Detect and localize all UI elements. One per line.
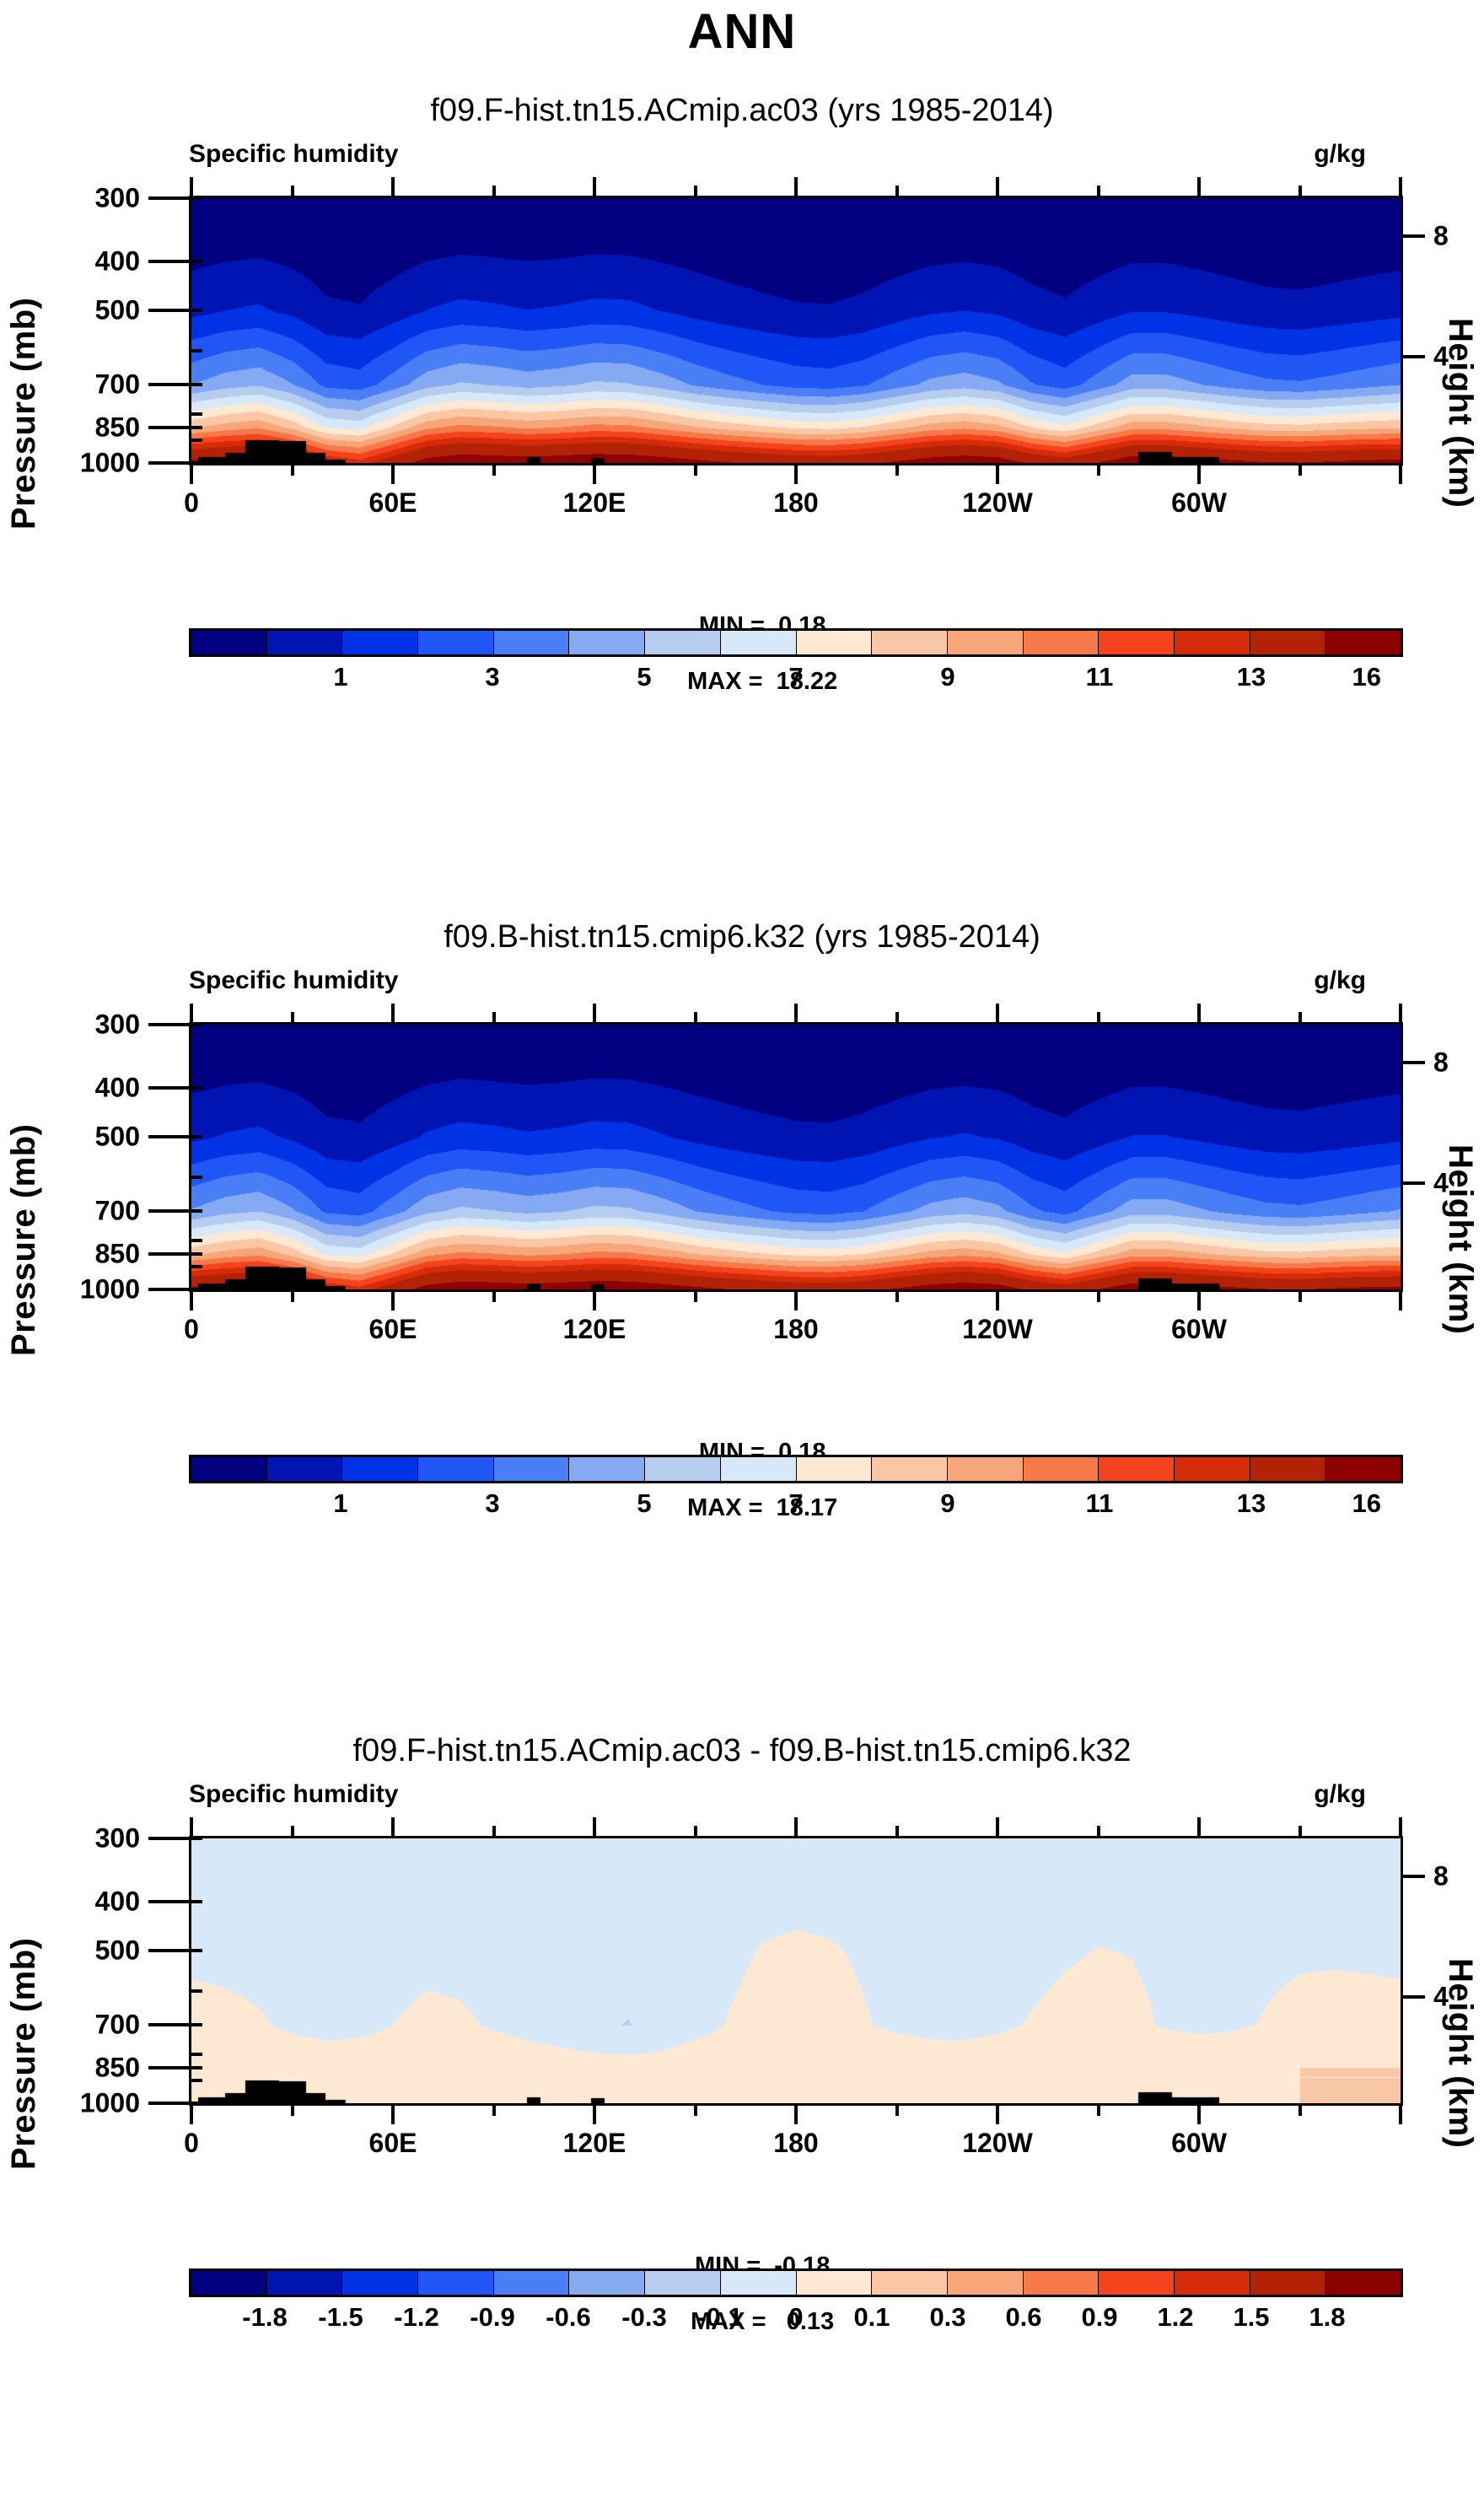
variable-label: Specific humidity — [189, 1780, 398, 1809]
pressure-tick-mark — [148, 1023, 189, 1026]
colorbar-segment — [645, 631, 721, 654]
longitude-top-tick — [694, 186, 697, 196]
colorbar-labels: 13579111316 — [189, 1488, 1403, 1522]
longitude-top-tick — [694, 1826, 697, 1836]
colorbar-segment — [797, 2271, 873, 2295]
longitude-top-tick — [996, 177, 999, 196]
colorbar-segment — [494, 1457, 570, 1481]
pressure-minor-tick — [189, 1239, 202, 1242]
colorbar-segment — [1250, 631, 1326, 654]
pressure-minor-tick — [189, 2066, 202, 2069]
longitude-top-tick — [190, 1004, 193, 1022]
height-tick-label: 4 — [1433, 1981, 1484, 2012]
longitude-bottom-tick — [190, 466, 193, 484]
pressure-tick-mark — [148, 309, 189, 312]
colorbar-tick-label: 1.5 — [1233, 2302, 1269, 2333]
longitude-top-tick — [1298, 1012, 1302, 1022]
colorbar-segment — [1325, 631, 1401, 654]
pressure-minor-tick — [189, 2102, 202, 2105]
pressure-tick-label: 300 — [47, 183, 140, 214]
colorbar-segment — [872, 631, 948, 654]
colorbar-tick-label: 3 — [485, 1488, 499, 1519]
height-tick-label: 8 — [1433, 1860, 1484, 1892]
colorbar — [189, 628, 1403, 657]
colorbar-segment — [872, 2271, 948, 2295]
pressure-minor-tick — [189, 1252, 202, 1256]
pressure-minor-tick — [189, 1209, 202, 1213]
longitude-bottom-tick — [996, 466, 999, 484]
colorbar-segment — [645, 2271, 721, 2295]
colorbar-segment — [1175, 1457, 1250, 1481]
longitude-top-tick — [190, 1817, 193, 1836]
longitude-top-tick — [996, 1004, 999, 1022]
page-title: ANN — [0, 3, 1484, 60]
pressure-tick-mark — [148, 1252, 189, 1256]
colorbar-segment — [721, 2271, 797, 2295]
longitude-tick-label: 60E — [369, 2128, 417, 2159]
longitude-top-tick — [391, 1817, 395, 1836]
pressure-minor-tick — [189, 1086, 202, 1090]
colorbar-segment — [948, 2271, 1024, 2295]
longitude-bottom-tick — [694, 466, 697, 476]
colorbar-tick-label: 1.8 — [1309, 2302, 1345, 2333]
pressure-tick-label: 1000 — [47, 1274, 140, 1305]
longitude-bottom-tick — [1399, 466, 1402, 484]
pressure-tick-label: 400 — [47, 246, 140, 277]
colorbar-segment — [494, 631, 570, 654]
longitude-tick-label: 0 — [184, 2128, 199, 2159]
colorbar-segment — [1325, 1457, 1401, 1481]
colorbar-segment — [872, 1457, 948, 1481]
longitude-top-tick — [1197, 177, 1201, 196]
pressure-axis-title: Pressure (mb) — [5, 1020, 46, 1459]
pressure-tick-mark — [148, 1900, 189, 1903]
longitude-bottom-tick — [190, 1292, 193, 1311]
colorbar-segment — [1099, 631, 1175, 654]
longitude-bottom-tick — [492, 466, 496, 476]
colorbar-tick-label: 16 — [1352, 1488, 1381, 1519]
longitude-bottom-tick — [1097, 1292, 1100, 1302]
longitude-bottom-tick — [1298, 466, 1302, 476]
pressure-minor-tick — [189, 196, 202, 200]
pressure-minor-tick — [189, 1949, 202, 1952]
colorbar-tick-label: -0.1 — [697, 2302, 742, 2333]
longitude-top-tick — [1298, 186, 1302, 196]
longitude-bottom-tick — [1097, 2106, 1100, 2116]
pressure-minor-tick — [189, 383, 202, 386]
pressure-tick-label: 400 — [47, 1073, 140, 1104]
height-tick-mark — [1403, 1875, 1425, 1878]
colorbar-segment — [1024, 2271, 1100, 2295]
longitude-top-tick — [694, 1012, 697, 1022]
colorbar-tick-label: 11 — [1086, 1488, 1114, 1519]
pressure-tick-mark — [148, 1837, 189, 1840]
colorbar-segment — [267, 2271, 343, 2295]
colorbar-tick-label: 11 — [1086, 662, 1114, 692]
longitude-bottom-tick — [794, 466, 798, 484]
longitude-tick-label: 60E — [369, 1314, 417, 1345]
pressure-minor-tick — [189, 1135, 202, 1138]
longitude-bottom-tick — [391, 2106, 395, 2124]
figure-root: ANN f09.F-hist.tn15.ACmip.ac03 (yrs 1985… — [0, 0, 1484, 2508]
pressure-tick-label: 700 — [47, 2009, 140, 2040]
longitude-top-tick — [794, 1004, 798, 1022]
longitude-bottom-tick — [694, 1292, 697, 1302]
cross-section-plot — [189, 196, 1403, 466]
height-tick-mark — [1403, 355, 1425, 358]
colorbar-tick-label: -1.8 — [242, 2302, 287, 2333]
longitude-tick-label: 0 — [184, 487, 199, 519]
colorbar — [189, 2269, 1403, 2297]
contour-canvas — [191, 198, 1401, 463]
longitude-top-tick — [1399, 177, 1402, 196]
panel-title: f09.F-hist.tn15.ACmip.ac03 - f09.B-hist.… — [0, 1733, 1484, 1769]
pressure-minor-tick — [189, 1900, 202, 1903]
pressure-minor-tick — [189, 1176, 202, 1179]
pressure-minor-tick — [189, 2023, 202, 2026]
colorbar-segment — [342, 631, 418, 654]
longitude-bottom-tick — [996, 2106, 999, 2124]
colorbar-tick-label: 1 — [333, 662, 347, 692]
height-tick-label: 8 — [1433, 220, 1484, 251]
colorbar-tick-label: 0.6 — [1005, 2302, 1041, 2333]
longitude-tick-label: 180 — [773, 487, 818, 519]
longitude-top-tick — [1399, 1817, 1402, 1836]
pressure-minor-tick — [189, 439, 202, 442]
longitude-top-tick — [895, 1012, 899, 1022]
colorbar — [189, 1455, 1403, 1483]
colorbar-segment — [569, 631, 645, 654]
panel-title: f09.F-hist.tn15.ACmip.ac03 (yrs 1985-201… — [0, 93, 1484, 129]
longitude-top-tick — [391, 177, 395, 196]
colorbar-segment — [797, 1457, 873, 1481]
pressure-tick-mark — [148, 2102, 189, 2105]
colorbar-segment — [1024, 1457, 1100, 1481]
pressure-tick-label: 1000 — [47, 448, 140, 479]
longitude-bottom-tick — [492, 1292, 496, 1302]
colorbar-segment — [948, 631, 1024, 654]
colorbar-segment — [948, 1457, 1024, 1481]
longitude-tick-label: 120E — [563, 1314, 626, 1345]
pressure-tick-label: 1000 — [47, 2088, 140, 2119]
contour-canvas — [191, 1025, 1401, 1289]
longitude-bottom-tick — [593, 466, 596, 484]
pressure-tick-mark — [148, 426, 189, 429]
longitude-bottom-tick — [291, 466, 294, 476]
longitude-bottom-tick — [391, 466, 395, 484]
longitude-top-tick — [895, 1826, 899, 1836]
pressure-tick-label: 500 — [47, 1935, 140, 1967]
longitude-top-tick — [1399, 1004, 1402, 1022]
longitude-bottom-tick — [291, 2106, 294, 2116]
longitude-top-tick — [190, 177, 193, 196]
colorbar-tick-label: -0.6 — [546, 2302, 590, 2333]
longitude-tick-label: 60W — [1171, 1314, 1227, 1345]
pressure-tick-label: 850 — [47, 2052, 140, 2083]
pressure-minor-tick — [189, 349, 202, 353]
pressure-tick-label: 500 — [47, 1122, 140, 1153]
pressure-minor-tick — [189, 1837, 202, 1840]
longitude-tick-label: 120W — [962, 487, 1033, 519]
longitude-bottom-tick — [1097, 466, 1100, 476]
longitude-bottom-tick — [391, 1292, 395, 1311]
longitude-bottom-tick — [1197, 466, 1201, 484]
longitude-bottom-tick — [1197, 2106, 1201, 2124]
colorbar-tick-label: 5 — [637, 1488, 651, 1519]
colorbar-tick-label: -0.9 — [470, 2302, 514, 2333]
colorbar-segment — [342, 1457, 418, 1481]
colorbar-tick-label: -1.2 — [394, 2302, 438, 2333]
longitude-tick-label: 120W — [962, 1314, 1033, 1345]
pressure-tick-mark — [148, 196, 189, 200]
longitude-top-tick — [1197, 1817, 1201, 1836]
height-tick-label: 8 — [1433, 1047, 1484, 1078]
pressure-minor-tick — [189, 426, 202, 429]
variable-label: Specific humidity — [189, 966, 398, 995]
colorbar-tick-label: -0.3 — [621, 2302, 666, 2333]
longitude-top-tick — [996, 1817, 999, 1836]
pressure-minor-tick — [189, 1023, 202, 1026]
longitude-bottom-tick — [694, 2106, 697, 2116]
colorbar-segment — [418, 2271, 494, 2295]
pressure-tick-label: 700 — [47, 369, 140, 400]
pressure-tick-label: 850 — [47, 1238, 140, 1269]
colorbar-segment — [494, 2271, 570, 2295]
colorbar-segment — [1250, 1457, 1326, 1481]
pressure-tick-label: 400 — [47, 1886, 140, 1918]
longitude-bottom-tick — [190, 2106, 193, 2124]
pressure-tick-mark — [148, 1949, 189, 1952]
height-tick-mark — [1403, 1995, 1425, 1999]
colorbar-labels: 13579111316 — [189, 662, 1403, 696]
height-tick-mark — [1403, 234, 1425, 238]
pressure-tick-label: 300 — [47, 1823, 140, 1854]
colorbar-tick-label: 0.9 — [1081, 2302, 1117, 2333]
longitude-bottom-tick — [996, 1292, 999, 1311]
pressure-tick-label: 500 — [47, 295, 140, 326]
colorbar-tick-label: 9 — [940, 662, 954, 692]
colorbar-segment — [721, 1457, 797, 1481]
colorbar-labels: -1.8-1.5-1.2-0.9-0.6-0.3-0.100.10.30.60.… — [189, 2302, 1403, 2336]
longitude-bottom-tick — [1298, 2106, 1302, 2116]
colorbar-segment — [1099, 1457, 1175, 1481]
height-axis-title: Height (km) — [1438, 194, 1479, 632]
pressure-minor-tick — [189, 1989, 202, 1993]
pressure-tick-mark — [148, 260, 189, 263]
longitude-bottom-tick — [593, 1292, 596, 1311]
longitude-top-tick — [291, 1012, 294, 1022]
colorbar-tick-label: 7 — [788, 1488, 803, 1519]
colorbar-segment — [342, 2271, 418, 2295]
colorbar-segment — [645, 1457, 721, 1481]
colorbar-tick-label: 0.1 — [853, 2302, 890, 2333]
pressure-tick-label: 300 — [47, 1009, 140, 1041]
longitude-bottom-tick — [794, 1292, 798, 1311]
pressure-axis-title: Pressure (mb) — [5, 194, 46, 632]
longitude-tick-label: 120E — [563, 2128, 626, 2159]
colorbar-tick-label: 0 — [788, 2302, 803, 2333]
pressure-minor-tick — [189, 1265, 202, 1268]
colorbar-segment — [569, 2271, 645, 2295]
units-label: g/kg — [1314, 966, 1366, 995]
longitude-bottom-tick — [794, 2106, 798, 2124]
longitude-bottom-tick — [492, 2106, 496, 2116]
longitude-tick-label: 120W — [962, 2128, 1033, 2159]
colorbar-segment — [418, 631, 494, 654]
longitude-tick-label: 60W — [1171, 2128, 1227, 2159]
colorbar-tick-label: 0.3 — [929, 2302, 965, 2333]
longitude-top-tick — [1298, 1826, 1302, 1836]
longitude-tick-label: 120E — [563, 487, 626, 519]
pressure-minor-tick — [189, 260, 202, 263]
pressure-tick-label: 700 — [47, 1195, 140, 1226]
colorbar-segment — [1250, 2271, 1326, 2295]
longitude-tick-label: 0 — [184, 1314, 199, 1345]
longitude-bottom-tick — [1399, 2106, 1402, 2124]
pressure-tick-mark — [148, 2023, 189, 2026]
colorbar-tick-label: 9 — [940, 1488, 954, 1519]
height-axis-title: Height (km) — [1438, 1020, 1479, 1459]
colorbar-tick-label: 1 — [333, 1488, 347, 1519]
cross-section-plot — [189, 1022, 1403, 1292]
longitude-bottom-tick — [291, 1292, 294, 1302]
colorbar-segment — [721, 631, 797, 654]
pressure-minor-tick — [189, 2053, 202, 2056]
longitude-top-tick — [1097, 1012, 1100, 1022]
units-label: g/kg — [1314, 1780, 1366, 1809]
longitude-top-tick — [794, 1817, 798, 1836]
pressure-minor-tick — [189, 412, 202, 416]
height-axis-title: Height (km) — [1438, 1834, 1479, 2273]
longitude-top-tick — [391, 1004, 395, 1022]
pressure-tick-mark — [148, 1086, 189, 1090]
pressure-tick-mark — [148, 1135, 189, 1138]
longitude-bottom-tick — [895, 2106, 899, 2116]
longitude-top-tick — [1097, 186, 1100, 196]
longitude-top-tick — [593, 1004, 596, 1022]
colorbar-tick-label: 5 — [637, 662, 651, 692]
pressure-tick-label: 850 — [47, 412, 140, 443]
longitude-bottom-tick — [1298, 1292, 1302, 1302]
longitude-tick-label: 60E — [369, 487, 417, 519]
colorbar-tick-label: 7 — [788, 662, 803, 692]
colorbar-segment — [797, 631, 873, 654]
colorbar-segment — [1175, 631, 1250, 654]
contour-canvas — [191, 1838, 1401, 2103]
pressure-minor-tick — [189, 2079, 202, 2082]
colorbar-segment — [1175, 2271, 1250, 2295]
colorbar-tick-label: -1.5 — [318, 2302, 363, 2333]
pressure-tick-mark — [148, 461, 189, 465]
colorbar-tick-label: 1.2 — [1157, 2302, 1193, 2333]
pressure-tick-mark — [148, 2066, 189, 2069]
longitude-top-tick — [895, 186, 899, 196]
height-tick-mark — [1403, 1181, 1425, 1185]
pressure-axis-title: Pressure (mb) — [5, 1834, 46, 2273]
height-tick-label: 4 — [1433, 341, 1484, 372]
longitude-top-tick — [492, 186, 496, 196]
pressure-minor-tick — [189, 461, 202, 465]
pressure-tick-mark — [148, 383, 189, 386]
units-label: g/kg — [1314, 140, 1366, 169]
longitude-top-tick — [492, 1012, 496, 1022]
colorbar-segment — [191, 631, 267, 654]
longitude-top-tick — [1097, 1826, 1100, 1836]
colorbar-segment — [267, 1457, 343, 1481]
pressure-minor-tick — [189, 309, 202, 312]
longitude-tick-label: 60W — [1171, 487, 1227, 519]
panel-title: f09.B-hist.tn15.cmip6.k32 (yrs 1985-2014… — [0, 919, 1484, 955]
longitude-bottom-tick — [1399, 1292, 1402, 1311]
longitude-bottom-tick — [895, 1292, 899, 1302]
colorbar-segment — [267, 631, 343, 654]
colorbar-segment — [418, 1457, 494, 1481]
pressure-tick-mark — [148, 1288, 189, 1291]
colorbar-segment — [1099, 2271, 1175, 2295]
longitude-bottom-tick — [895, 466, 899, 476]
pressure-minor-tick — [189, 1288, 202, 1291]
height-tick-label: 4 — [1433, 1167, 1484, 1198]
colorbar-segment — [1325, 2271, 1401, 2295]
longitude-bottom-tick — [1197, 1292, 1201, 1311]
longitude-top-tick — [291, 1826, 294, 1836]
longitude-tick-label: 180 — [773, 1314, 818, 1345]
longitude-bottom-tick — [593, 2106, 596, 2124]
longitude-tick-label: 180 — [773, 2128, 818, 2159]
colorbar-tick-label: 16 — [1352, 662, 1381, 692]
longitude-top-tick — [593, 1817, 596, 1836]
colorbar-tick-label: 3 — [485, 662, 499, 692]
pressure-tick-mark — [148, 1209, 189, 1213]
colorbar-segment — [191, 1457, 267, 1481]
colorbar-segment — [191, 2271, 267, 2295]
cross-section-plot — [189, 1836, 1403, 2106]
longitude-top-tick — [593, 177, 596, 196]
longitude-top-tick — [291, 186, 294, 196]
height-tick-mark — [1403, 1061, 1425, 1064]
colorbar-tick-label: 13 — [1237, 662, 1266, 692]
variable-label: Specific humidity — [189, 140, 398, 169]
longitude-top-tick — [492, 1826, 496, 1836]
longitude-top-tick — [1197, 1004, 1201, 1022]
colorbar-tick-label: 13 — [1237, 1488, 1266, 1519]
longitude-top-tick — [794, 177, 798, 196]
colorbar-segment — [1024, 631, 1100, 654]
colorbar-segment — [569, 1457, 645, 1481]
